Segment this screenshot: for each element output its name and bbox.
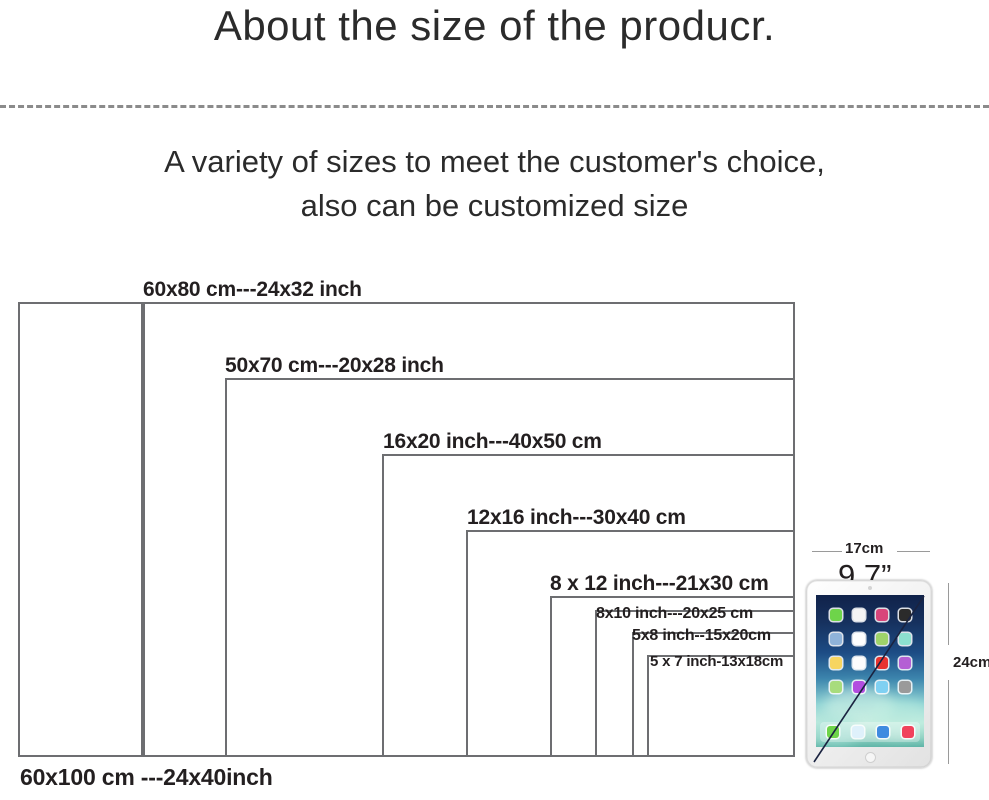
app-icon — [899, 609, 911, 621]
label-50x70: 50x70 cm---20x28 inch — [225, 354, 444, 378]
label-5x7: 5 x 7 inch-13x18cm — [650, 653, 783, 670]
tablet-screen — [816, 595, 924, 747]
app-icon — [853, 657, 865, 669]
tablet-illustration — [806, 580, 932, 768]
app-icon — [876, 681, 888, 693]
dimension-rule-height-bottom — [948, 680, 949, 764]
tablet-height-label: 24cm — [953, 654, 989, 671]
dock-app-icon — [827, 726, 839, 738]
app-icon — [853, 609, 865, 621]
label-60x80: 60x80 cm---24x32 inch — [143, 278, 362, 302]
camera-icon — [868, 586, 872, 590]
label-5x8: 5x8 inch--15x20cm — [632, 627, 771, 645]
app-icon — [876, 657, 888, 669]
label-60x100: 60x100 cm ---24x40inch — [20, 764, 273, 791]
tablet-dock — [820, 722, 920, 742]
app-icon — [899, 657, 911, 669]
dock-app-icon — [902, 726, 914, 738]
dimension-rule-width-right — [897, 551, 930, 552]
app-icon — [853, 681, 865, 693]
label-16x20: 16x20 inch---40x50 cm — [383, 430, 602, 454]
label-8x10: 8x10 inch---20x25 cm — [596, 605, 753, 623]
tablet-width-label: 17cm — [845, 540, 883, 557]
home-button-icon — [865, 752, 876, 763]
size-box-5x7 — [647, 655, 795, 757]
size-box-60x100 — [18, 302, 143, 757]
app-icon — [899, 681, 911, 693]
app-icon-grid — [824, 604, 916, 698]
tablet-body — [806, 580, 932, 768]
label-12x16: 12x16 inch---30x40 cm — [467, 506, 686, 530]
app-icon — [830, 633, 842, 645]
app-icon — [876, 609, 888, 621]
app-icon — [899, 633, 911, 645]
dock-app-icon — [852, 726, 864, 738]
app-icon — [853, 633, 865, 645]
app-icon — [830, 657, 842, 669]
label-8x12: 8 x 12 inch---21x30 cm — [550, 572, 769, 596]
dimension-rule-height-top — [948, 583, 949, 645]
app-icon — [830, 609, 842, 621]
app-icon — [876, 633, 888, 645]
dock-app-icon — [877, 726, 889, 738]
app-icon — [830, 681, 842, 693]
dimension-rule-width-left — [812, 551, 842, 552]
